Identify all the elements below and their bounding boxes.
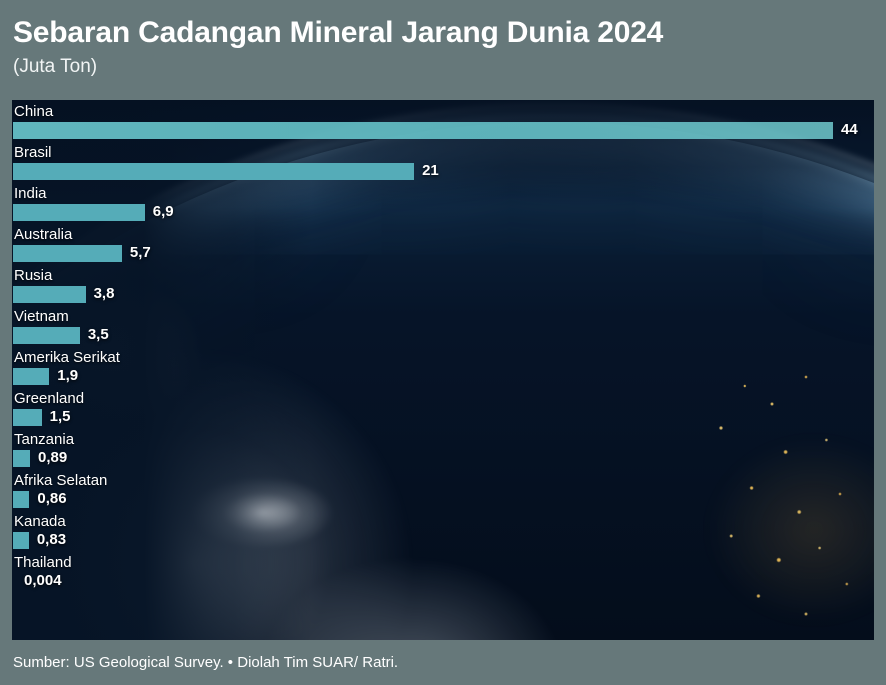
bar-category-label: Greenland [14,389,84,408]
bar-value-label: 44 [841,120,858,140]
bar-row: Thailand0,004 [12,553,874,594]
bar-row: Australia5,7 [12,225,874,266]
bar-row: India6,9 [12,184,874,225]
bar-value-label: 21 [422,161,439,181]
source-note: Sumber: US Geological Survey. • Diolah T… [13,654,398,671]
page-title: Sebaran Cadangan Mineral Jarang Dunia 20… [13,14,886,52]
bar [13,122,833,139]
bar [13,368,49,385]
bar [13,532,29,549]
bar [13,450,30,467]
bar-category-label: Kanada [14,512,66,531]
bar-category-label: China [14,102,53,121]
bar-category-label: Brasil [14,143,52,162]
bar-value-label: 3,8 [94,284,115,304]
bar-row: Brasil21 [12,143,874,184]
bar-category-label: Tanzania [14,430,74,449]
bar-value-label: 6,9 [153,202,174,222]
chart-subtitle: (Juta Ton) [13,54,886,80]
bar-category-label: Afrika Selatan [14,471,107,490]
bar-value-label: 0,004 [24,571,62,591]
bar-row: Kanada0,83 [12,512,874,553]
bar-row: Tanzania0,89 [12,430,874,471]
bar [13,286,86,303]
bar-value-label: 0,83 [37,530,66,550]
chart-footer: Sumber: US Geological Survey. • Diolah T… [0,640,886,685]
chart-plot-area: China44Brasil21India6,9Australia5,7Rusia… [12,100,874,640]
bar-category-label: Vietnam [14,307,69,326]
bar-value-label: 1,9 [57,366,78,386]
bar-value-label: 0,89 [38,448,67,468]
bar-rows-container: China44Brasil21India6,9Australia5,7Rusia… [12,100,874,640]
bar [13,491,29,508]
bar-row: Vietnam3,5 [12,307,874,348]
bar-value-label: 3,5 [88,325,109,345]
bar-category-label: Amerika Serikat [14,348,120,367]
infographic-root: Sebaran Cadangan Mineral Jarang Dunia 20… [0,0,886,685]
bar-value-label: 5,7 [130,243,151,263]
bar-row: Greenland1,5 [12,389,874,430]
bar-value-label: 1,5 [50,407,71,427]
bar [13,327,80,344]
bar [13,245,122,262]
chart-header: Sebaran Cadangan Mineral Jarang Dunia 20… [0,0,886,100]
bar [13,204,145,221]
bar-row: Rusia3,8 [12,266,874,307]
bar-category-label: India [14,184,47,203]
bar-category-label: Rusia [14,266,52,285]
bar-row: Afrika Selatan0,86 [12,471,874,512]
bar-category-label: Thailand [14,553,72,572]
bar [13,409,42,426]
bar-row: China44 [12,102,874,143]
bar [13,163,414,180]
bar-category-label: Australia [14,225,72,244]
bar-value-label: 0,86 [37,489,66,509]
bar-row: Amerika Serikat1,9 [12,348,874,389]
